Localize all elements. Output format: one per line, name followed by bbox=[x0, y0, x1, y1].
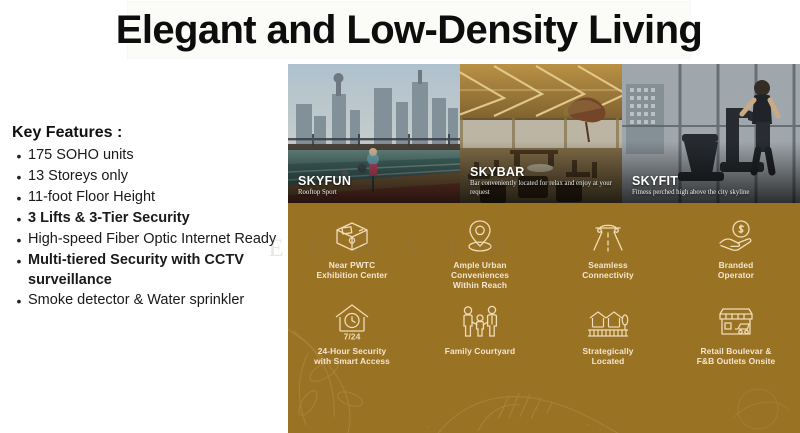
amenity-label: Strategically Located bbox=[582, 346, 633, 366]
amenity-label: 24-Hour Security with Smart Access bbox=[314, 346, 390, 366]
photo-title: SKYFIT bbox=[632, 174, 794, 188]
page-title: Elegant and Low-Density Living bbox=[116, 8, 703, 53]
amenity-label: Branded Operator bbox=[718, 260, 754, 280]
list-item: • Multi-tiered Security with CCTV survei… bbox=[10, 251, 292, 290]
bullet-icon: • bbox=[10, 209, 28, 229]
list-item: • 11-foot Floor Height bbox=[10, 188, 292, 208]
amenity-label: Near PWTC Exhibition Center bbox=[316, 260, 387, 280]
highway-road-icon bbox=[585, 215, 631, 257]
list-item-label: 13 Storeys only bbox=[28, 167, 128, 187]
bullet-icon: • bbox=[10, 251, 28, 271]
amenity-item-branded-operator: Branded Operator bbox=[672, 211, 800, 293]
exhibition-hall-icon bbox=[329, 215, 375, 257]
photo-subtitle: Bar conveniently located for relax and e… bbox=[470, 180, 616, 197]
photo-caption: SKYFUN Rooftop Sport bbox=[298, 174, 454, 197]
photo-card-skyfun: SKYFUN Rooftop Sport bbox=[288, 64, 460, 203]
amenity-item-strategically-located: Strategically Located bbox=[544, 297, 672, 368]
amenity-label: Family Courtyard bbox=[445, 346, 515, 356]
map-pin-icon bbox=[457, 215, 503, 257]
key-features-heading: Key Features : bbox=[12, 124, 292, 142]
list-item-label: Smoke detector & Water sprinkler bbox=[28, 291, 244, 311]
bullet-icon: • bbox=[10, 188, 28, 208]
amenity-item-seamless-connectivity: Seamless Connectivity bbox=[544, 211, 672, 293]
bullet-icon: • bbox=[10, 167, 28, 187]
list-item-label: 11-foot Floor Height bbox=[28, 188, 155, 208]
amenities-panel: Near PWTC Exhibition Center Ample Urban … bbox=[288, 203, 800, 433]
list-item: • 3 Lifts & 3-Tier Security bbox=[10, 209, 292, 229]
list-item: • 13 Storeys only bbox=[10, 167, 292, 187]
list-item-label: 175 SOHO units bbox=[28, 146, 134, 166]
photo-title: SKYBAR bbox=[470, 165, 616, 179]
list-item-label: Multi-tiered Security with CCTV surveill… bbox=[28, 251, 292, 290]
amenity-item-family-courtyard: Family Courtyard bbox=[416, 297, 544, 368]
amenity-label: Retail Boulevar & F&B Outlets Onsite bbox=[697, 346, 776, 366]
list-item: • Smoke detector & Water sprinkler bbox=[10, 291, 292, 311]
family-icon bbox=[457, 301, 503, 343]
amenity-item-urban-conveniences: Ample Urban Conveniences Within Reach bbox=[416, 211, 544, 293]
amenity-item-near-pwtc: Near PWTC Exhibition Center bbox=[288, 211, 416, 293]
list-item-label: High-speed Fiber Optic Internet Ready bbox=[28, 230, 276, 250]
list-item: • High-speed Fiber Optic Internet Ready bbox=[10, 230, 292, 250]
amenity-label: Seamless Connectivity bbox=[582, 260, 633, 280]
amenity-label: Ample Urban Conveniences Within Reach bbox=[451, 260, 509, 291]
slide-title-box: Elegant and Low-Density Living bbox=[128, 2, 690, 58]
list-item: • 175 SOHO units bbox=[10, 146, 292, 166]
hand-coin-icon bbox=[713, 215, 759, 257]
photo-subtitle: Rooftop Sport bbox=[298, 189, 454, 197]
svg-text:7/24: 7/24 bbox=[344, 331, 361, 341]
house-clock-icon: 7/24 bbox=[329, 301, 375, 343]
photo-card-skyfit: SKYFIT Fitness perched high above the ci… bbox=[622, 64, 800, 203]
amenity-item-retail-boulevard: Retail Boulevar & F&B Outlets Onsite bbox=[672, 297, 800, 368]
neighborhood-houses-icon bbox=[585, 301, 631, 343]
list-item-label: 3 Lifts & 3-Tier Security bbox=[28, 209, 190, 229]
bullet-icon: • bbox=[10, 230, 28, 250]
photo-caption: SKYFIT Fitness perched high above the ci… bbox=[632, 174, 794, 197]
amenities-grid: Near PWTC Exhibition Center Ample Urban … bbox=[288, 211, 800, 368]
shopfront-cart-icon bbox=[713, 301, 759, 343]
photo-title: SKYFUN bbox=[298, 174, 454, 188]
photo-subtitle: Fitness perched high above the city skyl… bbox=[632, 189, 794, 197]
amenity-photo-strip: SKYFUN Rooftop Sport bbox=[288, 64, 800, 203]
presentation-slide: Elegant and Low-Density Living Key Featu… bbox=[0, 0, 800, 433]
amenity-item-24h-security: 7/24 24-Hour Security with Smart Access bbox=[288, 297, 416, 368]
bullet-icon: • bbox=[10, 291, 28, 311]
photo-card-skybar: SKYBAR Bar conveniently located for rela… bbox=[460, 64, 622, 203]
photo-caption: SKYBAR Bar conveniently located for rela… bbox=[470, 165, 616, 197]
bullet-icon: • bbox=[10, 146, 28, 166]
key-features-block: Key Features : • 175 SOHO units • 13 Sto… bbox=[10, 124, 292, 312]
